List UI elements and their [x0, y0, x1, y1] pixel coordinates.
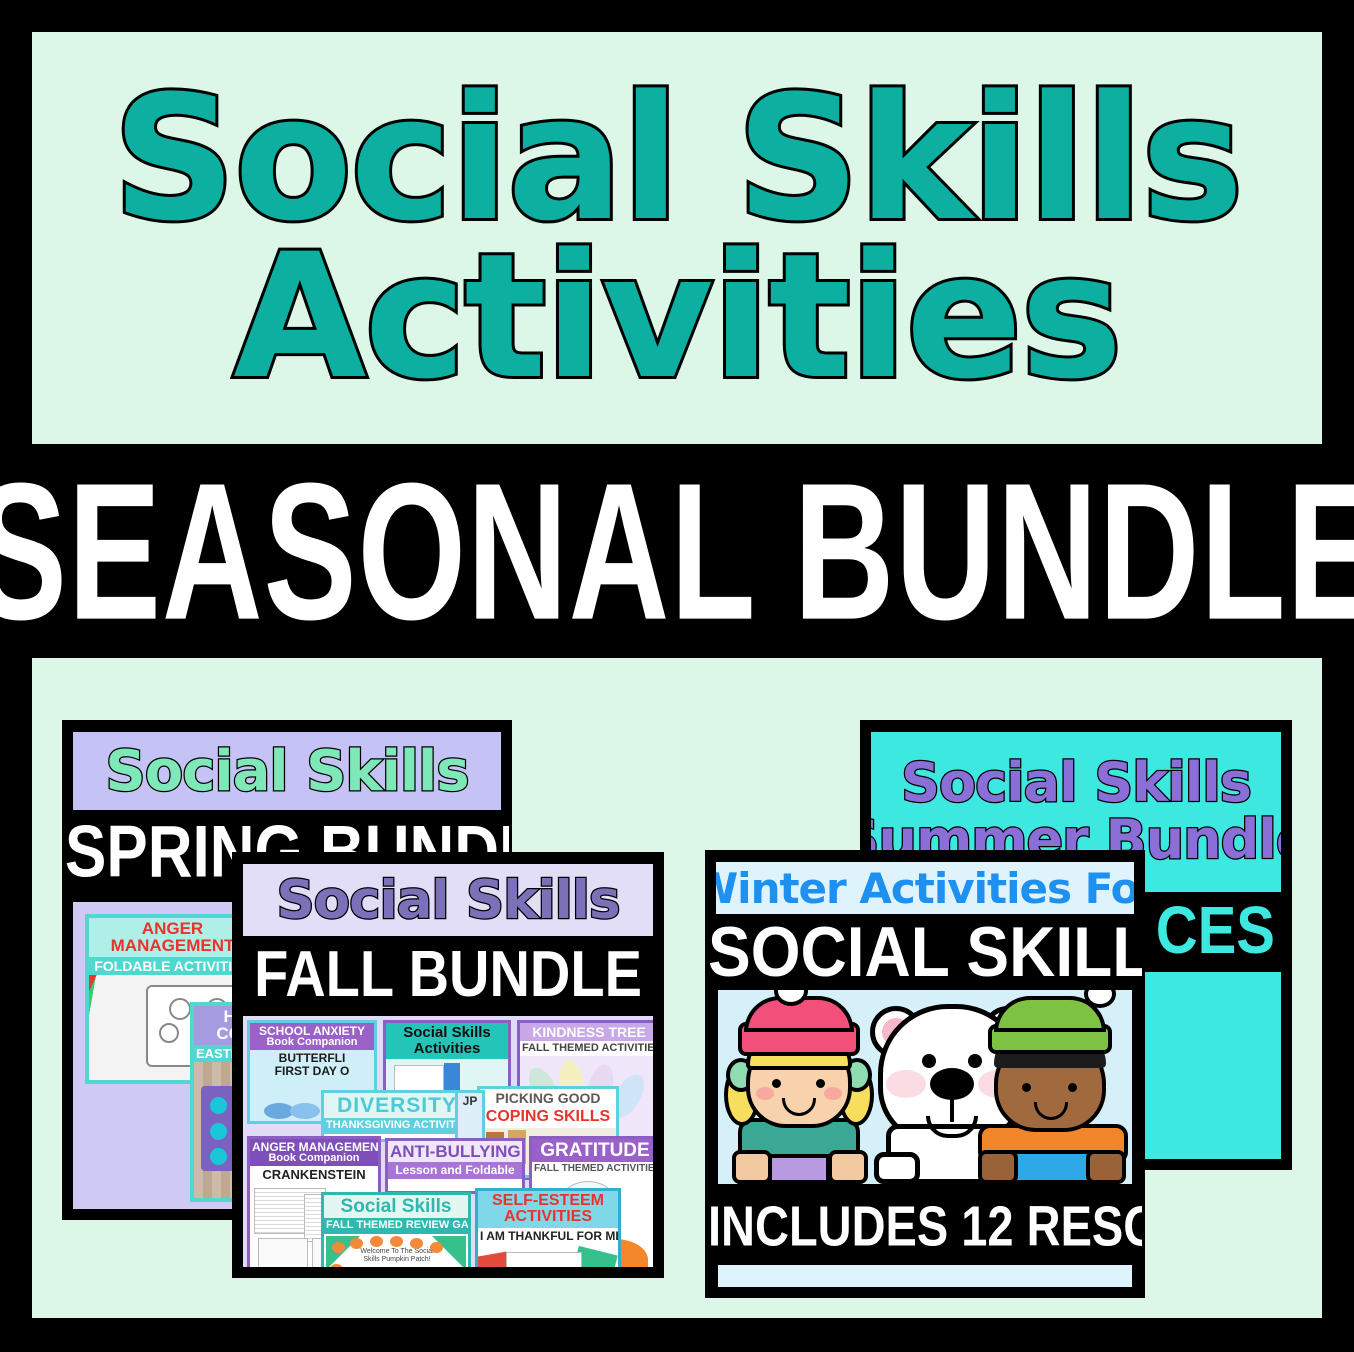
thumb-line-2: Activities	[388, 1041, 506, 1057]
main-title-line-2: Activities	[233, 238, 1121, 396]
product-covers-panel: Social Skills SPRING BUNDLE ANGER MANAGE…	[32, 658, 1322, 1318]
fall-thumbnail-grid: SCHOOL ANXIETY Book Companion BUTTERFLI …	[243, 1016, 653, 1267]
winter-footer-bar	[718, 1265, 1132, 1287]
winter-top-banner: Winter Activities For	[716, 862, 1134, 914]
winter-top-banner-text: Winter Activities For	[716, 864, 1134, 913]
spring-brand-text: Social Skills	[105, 739, 468, 804]
winter-subtitle: SOCIAL SKILLS	[708, 917, 1142, 987]
main-title-line-1: Social Skills	[112, 80, 1241, 238]
cover-card-fall[interactable]: Social Skills FALL BUNDLE SCHOOL ANXIETY…	[232, 852, 664, 1278]
thumb-butterfly-line-2: FIRST DAY O	[275, 1064, 350, 1078]
thumb-line-2: COPING SKILLS	[480, 1107, 616, 1127]
thumb-line-3: CRANKENSTEIN	[250, 1166, 378, 1183]
thumb-line-1: JP	[458, 1093, 482, 1109]
thumb-line-1: PICKING GOOD	[480, 1089, 616, 1107]
fall-header-band: Social Skills	[243, 864, 653, 936]
thumb-line-1: GRATITUDE	[532, 1139, 653, 1162]
summer-brand-line-1: Social Skills	[901, 755, 1251, 812]
thumb-line-2: Book Companion	[252, 1153, 376, 1164]
thumb-line-1: Social Skills	[388, 1025, 506, 1041]
thumb-line-2: MANAGEMENT	[91, 937, 254, 954]
thumb-line-2: FALL THEMED ACTIVITIES	[532, 1162, 653, 1176]
thumb-line-3: I AM THANKFUL FOR ME	[478, 1228, 618, 1244]
thumb-line-1: DIVERSITY	[324, 1093, 470, 1118]
thumb-anti-bullying: ANTI-BULLYING Lesson and Foldable	[385, 1138, 525, 1194]
thumb-line-2: FALL THEMED ACTIVITIES	[520, 1041, 653, 1056]
winter-bottom-banner: INCLUDES 12 RESOURCES	[708, 1193, 1142, 1259]
thumb-line-2: THANKSGIVING ACTIVITIES	[324, 1118, 470, 1133]
thumb-line-1: ANGER	[91, 920, 254, 937]
fall-subtitle: FALL BUNDLE	[235, 942, 661, 1007]
thumb-line-1: SELF-ESTEEM	[480, 1193, 616, 1209]
thumb-line-3: Welcome To The Social Skills Pumpkin Pat…	[354, 1248, 440, 1264]
spring-header-band: Social Skills	[73, 732, 501, 810]
thumb-line-1: Social Skills	[324, 1195, 468, 1218]
thumb-line-2: Book Companion	[252, 1037, 372, 1048]
winter-illustration	[718, 990, 1132, 1184]
girl-figure	[724, 990, 874, 1184]
thumb-line-2: ACTIVITIES	[480, 1209, 616, 1225]
thumb-self-esteem: SELF-ESTEEM ACTIVITIES I AM THANKFUL FOR…	[475, 1188, 621, 1267]
main-title-panel: Social Skills Activities	[32, 32, 1322, 444]
thumb-fall-review-game: Social Skills FALL THEMED REVIEW GAME We…	[321, 1192, 471, 1267]
seasonal-bundle-band: SEASONAL BUNDLE	[0, 444, 1354, 658]
thumb-line-3: FOLDABLE ACTIVITIES	[89, 957, 256, 975]
fall-brand-text: Social Skills	[276, 870, 619, 931]
thumb-diversity: DIVERSITY THANKSGIVING ACTIVITIES	[321, 1090, 473, 1142]
thumb-line-2: FALL THEMED REVIEW GAME	[324, 1218, 468, 1233]
cover-card-winter[interactable]: Winter Activities For SOCIAL SKILLS	[705, 850, 1145, 1298]
thumb-line-1: ANTI-BULLYING	[388, 1141, 522, 1162]
seasonal-bundle-text: SEASONAL BUNDLE	[0, 454, 1354, 649]
thumb-line-1: KINDNESS TREE	[520, 1023, 653, 1041]
boy-figure	[976, 990, 1128, 1184]
thumb-line-2: Lesson and Foldable	[388, 1162, 522, 1178]
